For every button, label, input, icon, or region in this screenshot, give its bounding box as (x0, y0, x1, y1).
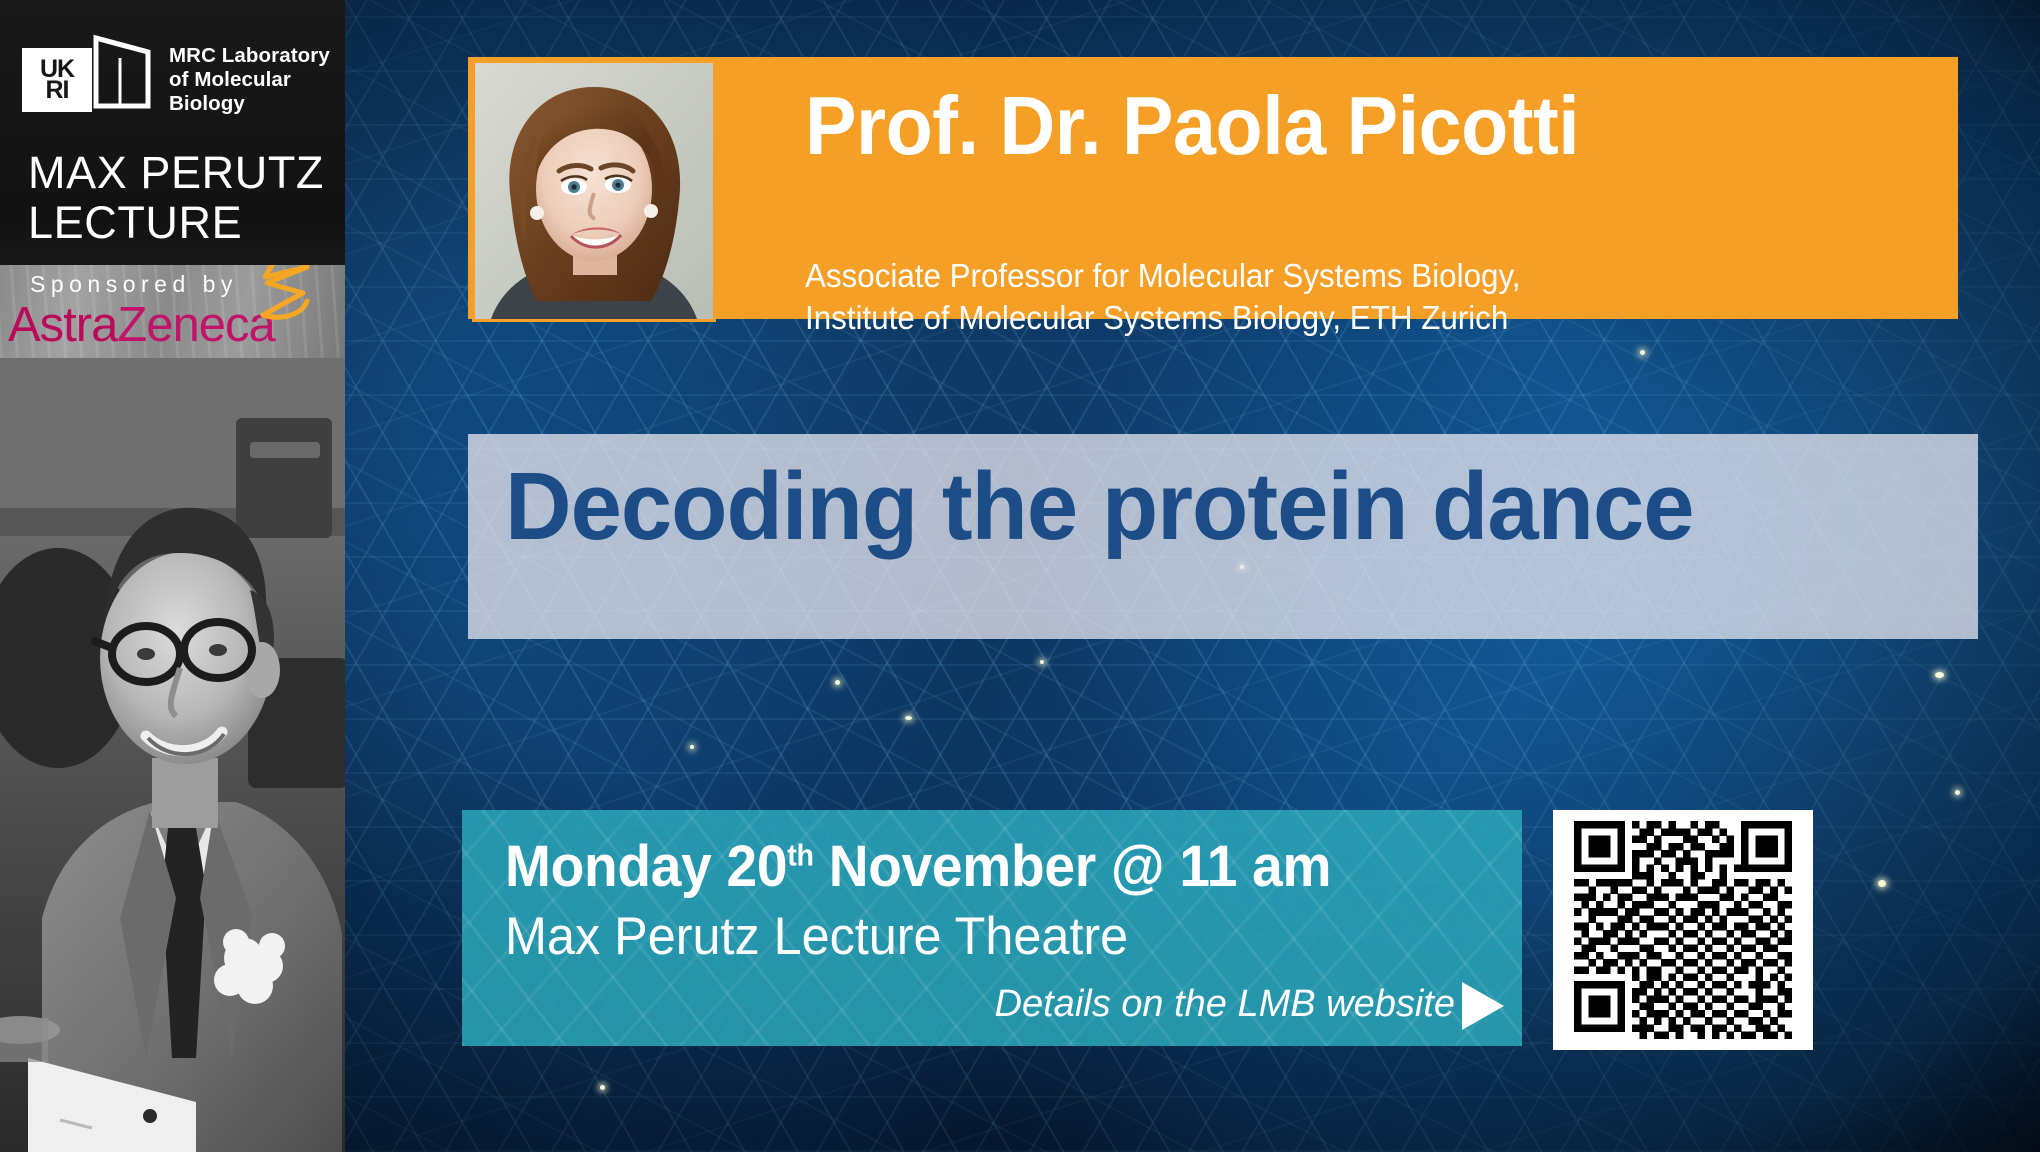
highlight-spark (600, 1085, 605, 1090)
lecture-series-line-1: MAX PERUTZ (28, 148, 324, 198)
event-date: Monday 20th November @ 11 am (505, 838, 1331, 896)
mrc-lab-name: MRC Laboratory of Molecular Biology (169, 32, 330, 117)
speaker-affiliation-line-1: Associate Professor for Molecular System… (805, 255, 1521, 297)
highlight-spark (1935, 672, 1944, 678)
max-perutz-photo (0, 358, 345, 1152)
mrc-line-3: Biology (169, 92, 330, 116)
highlight-spark (905, 716, 912, 720)
speaker-name: Prof. Dr. Paola Picotti (805, 84, 1579, 167)
speaker-headshot (472, 60, 716, 322)
mrc-line-1: MRC Laboratory (169, 44, 330, 68)
event-date-prefix: Monday 20 (505, 834, 787, 899)
astrazeneca-wordmark: AstraZeneca (8, 301, 275, 350)
event-date-ordinal: th (787, 840, 813, 873)
astrazeneca-logo: AstraZeneca (8, 301, 275, 350)
sponsored-by-label: Sponsored by (30, 271, 238, 298)
qr-code[interactable] (1574, 821, 1792, 1039)
event-date-suffix: November @ 11 am (814, 834, 1331, 899)
highlight-spark (835, 680, 840, 685)
highlight-spark (690, 745, 694, 749)
ukri-wordmark-text: UKRI (40, 59, 74, 101)
lecture-series-line-2: LECTURE (28, 198, 324, 248)
ukri-logo-icon: UKRI (22, 32, 155, 112)
ukri-geometric-shape-icon (90, 32, 155, 112)
sidebar: UKRI MRC Laboratory of Molecular Biology… (0, 0, 345, 1152)
qr-code-container[interactable] (1553, 810, 1813, 1050)
lecture-title: Decoding the protein dance (505, 459, 1907, 555)
website-link-text[interactable]: Details on the LMB website (505, 985, 1455, 1023)
highlight-spark (1955, 790, 1960, 795)
lecture-series-title: MAX PERUTZ LECTURE (28, 148, 324, 249)
speaker-affiliation-line-2: Institute of Molecular Systems Biology, … (805, 297, 1521, 339)
sponsor-block: Sponsored by AstraZeneca (0, 265, 345, 358)
astrazeneca-swirl-icon (245, 265, 325, 323)
highlight-spark (1640, 350, 1645, 355)
ukri-wordmark-block: UKRI (22, 48, 92, 112)
highlight-spark (1878, 880, 1886, 887)
play-triangle-icon[interactable] (1462, 982, 1504, 1030)
ukri-mrc-logo: UKRI MRC Laboratory of Molecular Biology (22, 32, 330, 117)
highlight-spark (1040, 660, 1044, 664)
mrc-line-2: of Molecular (169, 68, 330, 92)
event-venue: Max Perutz Lecture Theatre (505, 910, 1128, 963)
lecture-poster: UKRI MRC Laboratory of Molecular Biology… (0, 0, 2040, 1152)
speaker-affiliation: Associate Professor for Molecular System… (805, 255, 1521, 339)
